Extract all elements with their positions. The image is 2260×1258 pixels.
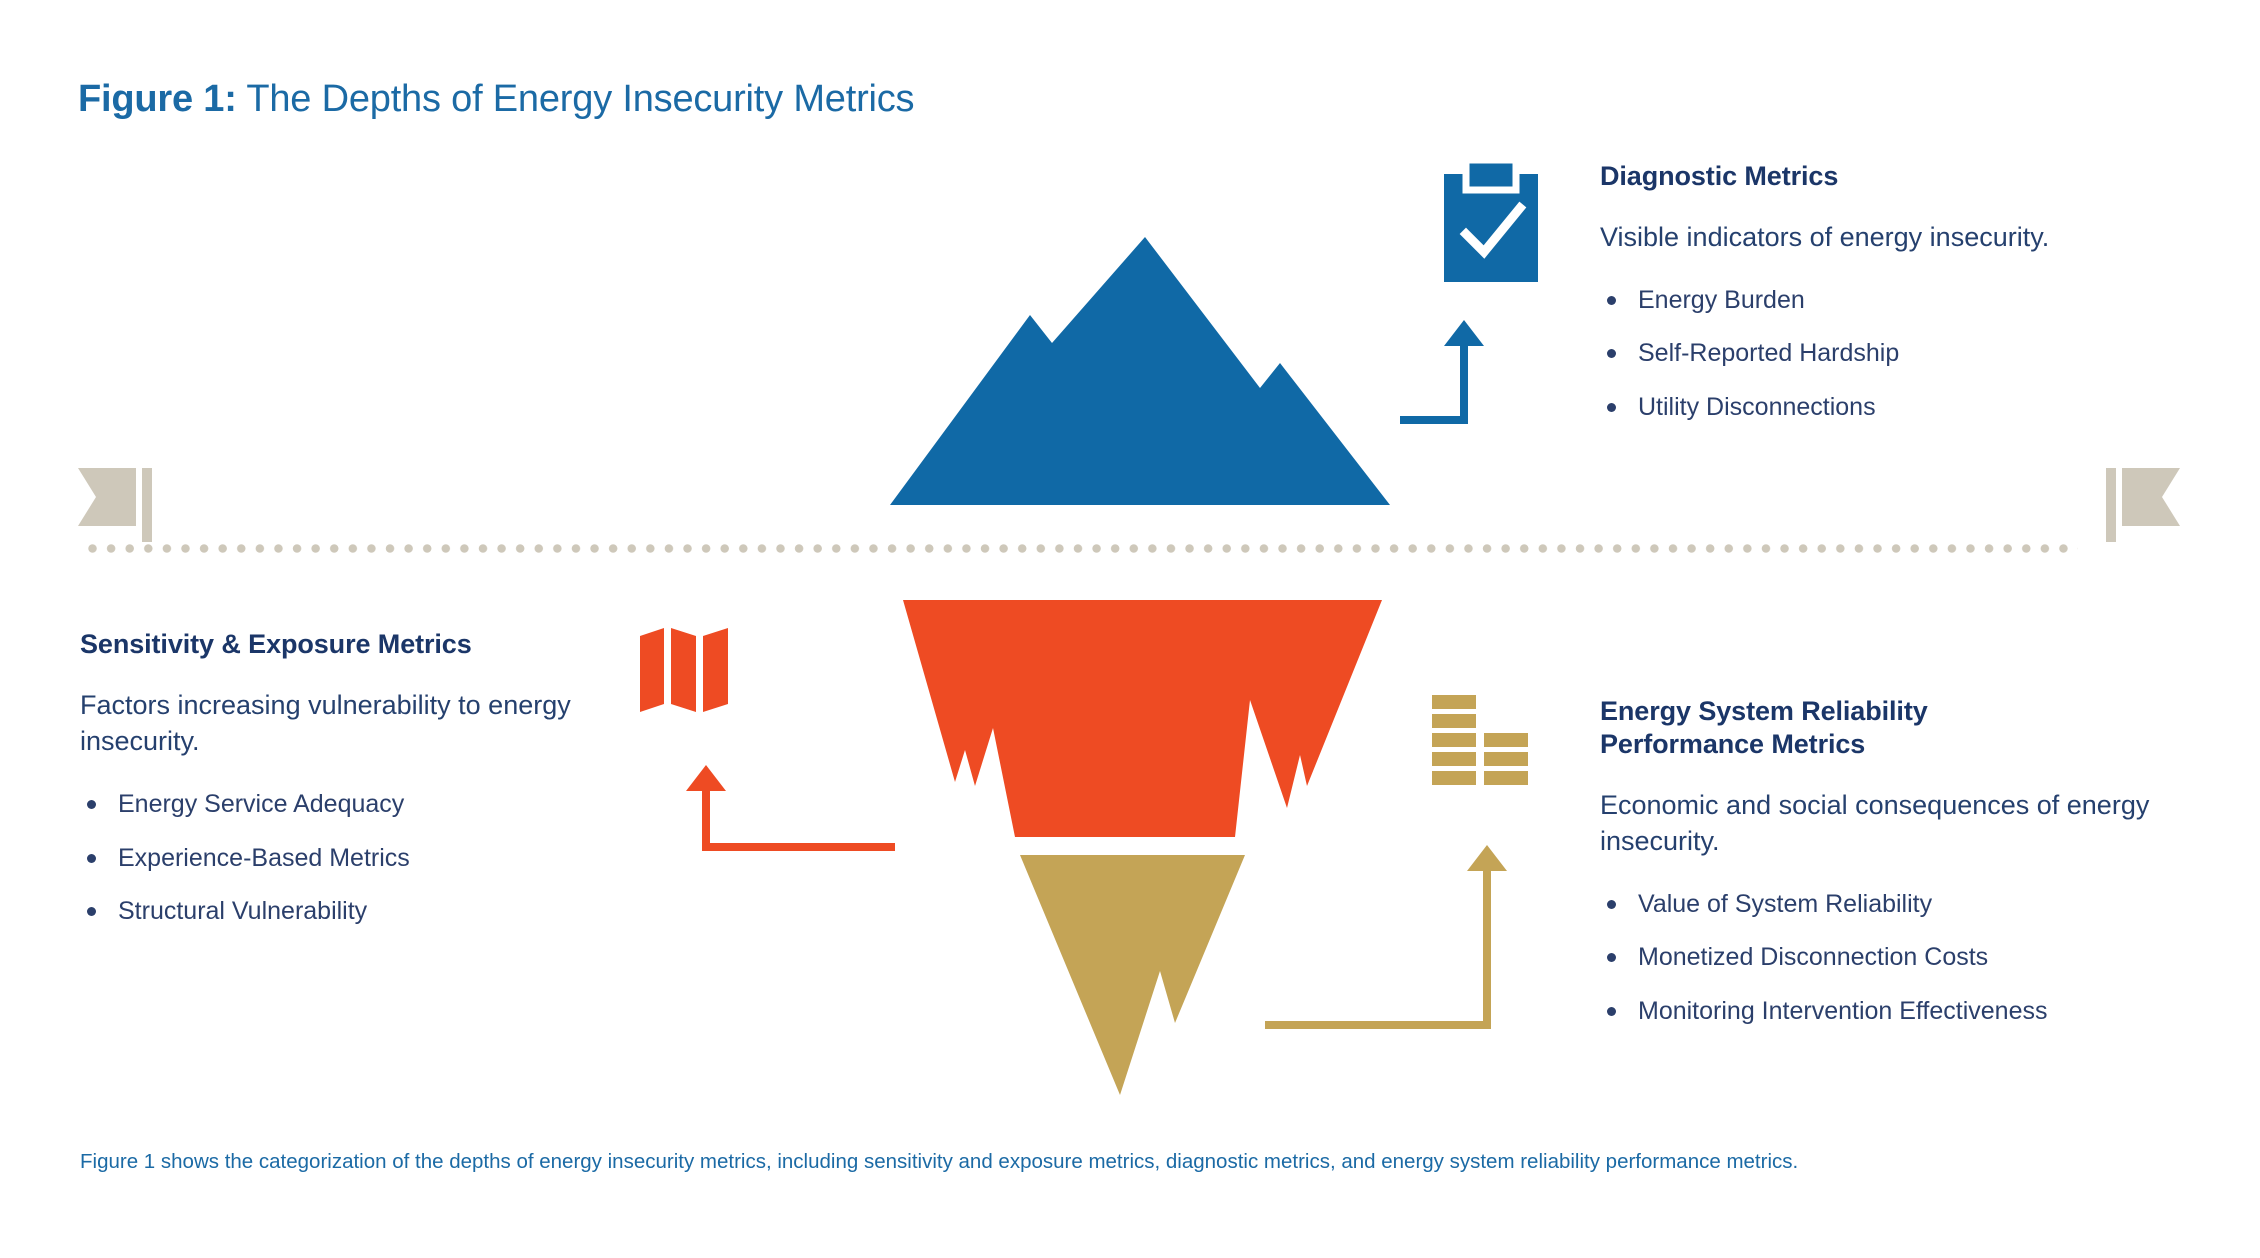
list-item-label: Energy Service Adequacy [118,790,404,818]
bullet-icon [87,907,96,916]
list-item: Experience-Based Metrics [80,843,640,874]
list-item: Energy Service Adequacy [80,789,640,820]
list-item-label: Energy Burden [1638,286,1805,314]
reliability-description: Economic and social consequences of ener… [1600,787,2240,859]
section-diagnostic-metrics: Diagnostic Metrics Visible indicators of… [1600,160,2240,445]
list-item-label: Monetized Disconnection Costs [1638,943,1988,971]
list-item-label: Monitoring Intervention Effectiveness [1638,997,2048,1025]
bullet-icon [87,800,96,809]
sensitivity-list: Energy Service Adequacy Experience-Based… [80,789,640,927]
waterline-flag-left [78,468,158,542]
bullet-icon [1607,953,1616,962]
diagnostic-list: Energy Burden Self-Reported Hardship Uti… [1600,285,2240,423]
connector-arrow-diagnostic [1400,320,1510,430]
section-sensitivity-exposure-metrics: Sensitivity & Exposure Metrics Factors i… [80,628,640,949]
reliability-heading: Energy System ReliabilityPerformance Met… [1600,695,2240,761]
bar-chart-icon [1432,695,1528,787]
figure-number: Figure 1: [78,78,237,120]
list-item: Utility Disconnections [1600,392,2240,423]
bullet-icon [1607,1007,1616,1016]
bullet-icon [1607,349,1616,358]
list-item: Self-Reported Hardship [1600,338,2240,369]
diagnostic-description: Visible indicators of energy insecurity. [1600,219,2240,255]
waterline-flag-right [2106,468,2186,542]
bullet-icon [1607,900,1616,909]
section-energy-system-reliability-metrics: Energy System ReliabilityPerformance Met… [1600,695,2240,1049]
connector-arrow-reliability [1265,845,1515,1035]
list-item-label: Value of System Reliability [1638,890,1932,918]
iceberg-top-blue [890,215,1390,505]
sensitivity-heading: Sensitivity & Exposure Metrics [80,628,640,661]
list-item: Structural Vulnerability [80,896,640,927]
figure-caption: Figure 1 shows the categorization of the… [80,1148,2180,1176]
waterline-dotted-line [88,544,2078,553]
iceberg-middle-orange [895,600,1390,845]
list-item: Monitoring Intervention Effectiveness [1600,996,2240,1027]
figure-title-text: The Depths of Energy Insecurity Metrics [237,78,915,120]
folded-map-icon [640,628,732,712]
page-title: Figure 1: The Depths of Energy Insecurit… [78,78,914,121]
list-item-label: Structural Vulnerability [118,897,367,925]
bullet-icon [87,854,96,863]
list-item: Monetized Disconnection Costs [1600,942,2240,973]
list-item-label: Experience-Based Metrics [118,844,410,872]
list-item-label: Self-Reported Hardship [1638,339,1899,367]
list-item: Value of System Reliability [1600,889,2240,920]
list-item-label: Utility Disconnections [1638,393,1876,421]
connector-arrow-sensitivity [680,765,895,860]
reliability-list: Value of System Reliability Monetized Di… [1600,889,2240,1027]
bullet-icon [1607,296,1616,305]
reliability-heading-line2: Performance Metrics [1600,729,1865,759]
list-item: Energy Burden [1600,285,2240,316]
iceberg-bottom-gold [1020,855,1245,1095]
bullet-icon [1607,403,1616,412]
diagnostic-heading: Diagnostic Metrics [1600,160,2240,193]
reliability-heading-line1: Energy System Reliability [1600,696,1928,726]
figure-container: Figure 1: The Depths of Energy Insecurit… [0,0,2260,1258]
clipboard-check-icon [1444,160,1538,282]
sensitivity-description: Factors increasing vulnerability to ener… [80,687,640,759]
